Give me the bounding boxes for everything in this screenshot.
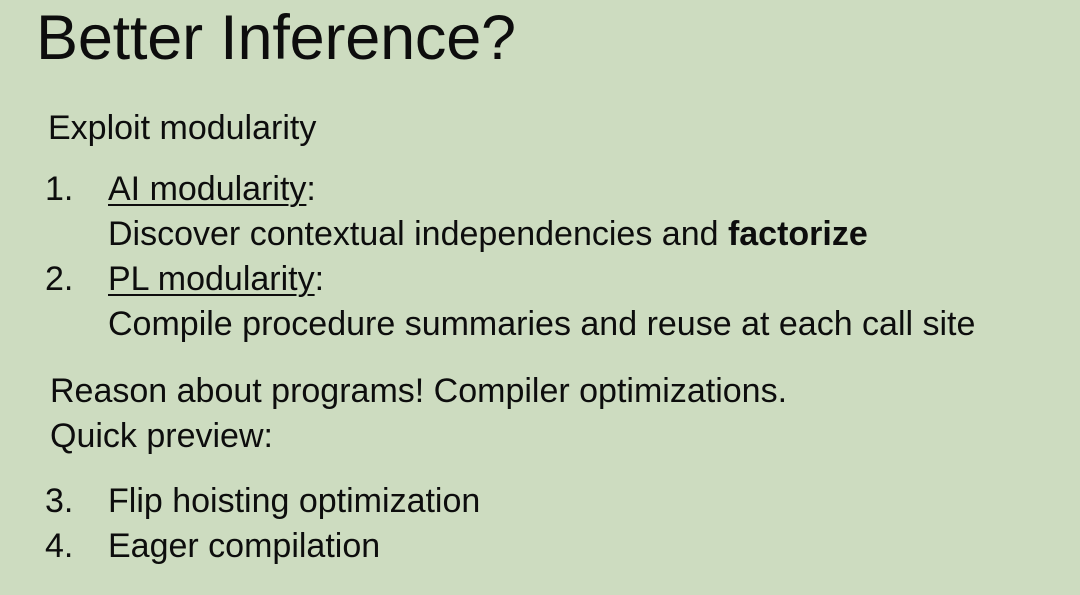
note-line-reason: Reason about programs! Compiler optimiza… [0,369,1080,414]
list-item-detail: Discover contextual independencies and f… [0,212,1080,257]
list-item: 1. AI modularity: [0,167,1080,212]
spacer-after-lead [0,151,1080,167]
spacer-before-preview-list [0,459,1080,479]
numbered-list-preview: 3. Flip hoisting optimization 4. Eager c… [0,479,1080,569]
list-item-label: PL modularity [108,260,315,298]
numbered-list-primary: 1. AI modularity: Discover contextual in… [0,167,1080,347]
list-item-detail: Compile procedure summaries and reuse at… [0,302,1080,347]
list-item: 3. Flip hoisting optimization [0,479,1080,524]
slide-body: Exploit modularity 1. AI modularity: Dis… [0,106,1080,569]
list-item-marker: 4. [45,524,105,569]
list-item: 2. PL modularity: [0,257,1080,302]
list-item-detail-emphasis: factorize [728,215,868,253]
list-item-marker: 2. [45,257,105,302]
note-line-preview: Quick preview: [0,414,1080,459]
list-item-marker: 3. [45,479,105,524]
list-item-detail-text: Compile procedure summaries and reuse at… [108,305,975,343]
list-item-label-suffix: : [306,170,315,208]
page-title: Better Inference? [36,3,516,74]
lead-text: Exploit modularity [0,106,1080,151]
list-item-label-suffix: : [315,260,324,298]
list-item-detail-text: Discover contextual independencies and [108,215,728,253]
list-item-label: AI modularity [108,170,306,208]
list-item-marker: 1. [45,167,105,212]
list-item-text: Eager compilation [108,527,380,565]
list-item: 4. Eager compilation [0,524,1080,569]
presentation-slide: Better Inference? Exploit modularity 1. … [0,0,1080,595]
spacer-before-note [0,347,1080,369]
list-item-text: Flip hoisting optimization [108,482,480,520]
